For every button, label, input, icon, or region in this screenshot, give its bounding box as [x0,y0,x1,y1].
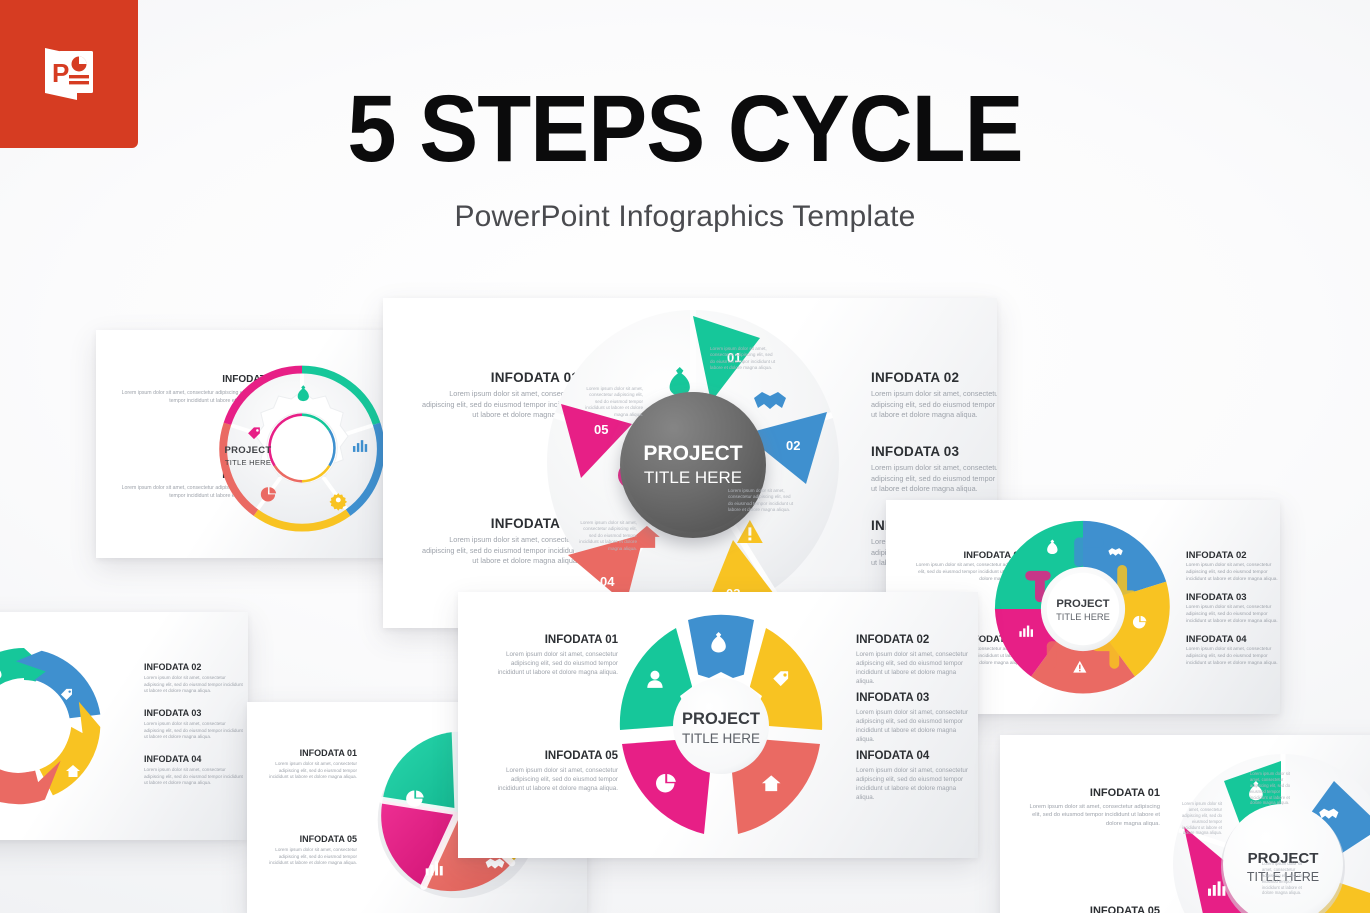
infodata-label: INFODATA 03 [144,708,201,718]
infodata-label: INFODATA 04 [1186,634,1247,645]
poster-canvas: P 5 STEPS CYCLE PowerPoint Infographics … [0,0,1370,913]
infodata-label: INFODATA 03 [1186,592,1247,603]
infodata-text: Lorem ipsum dolor sit amet, consectetur … [144,675,244,695]
infodata-label: INFODATA 02 [856,634,929,646]
infodata-label: INFODATA 03 [856,692,929,704]
infodata-text: Lorem ipsum dolor sit amet, consectetur … [261,761,357,781]
infodata-text: Lorem ipsum dolor sit amet, consectetur … [871,389,997,421]
infodata-label: INFODATA 01 [1020,787,1160,799]
infodata-label: INFODATA 03 [871,444,959,459]
center-title-line2: TITLE HERE [644,468,742,487]
inner-lorem-05: Lorem ipsum dolor sit amet, consectetur … [1178,801,1222,836]
infodata-text: Lorem ipsum dolor sit amet, consectetur … [1186,563,1278,584]
infodata-text: Lorem ipsum dolor sit amet, consectetur … [856,766,976,803]
infodata-text: Lorem ipsum dolor sit amet, consectetur … [871,463,997,495]
infodata-label: INFODATA 04 [856,750,929,762]
petal-diagram: PROJECT TITLE HERE [596,596,846,854]
inner-lorem-05: Lorem ipsum dolor sit amet, consectetur … [581,386,643,418]
puzzle-donut-diagram: PROJECT TITLE HERE [990,516,1176,702]
inner-lorem-01: Lorem ipsum dolor sit amet, consectetur … [1250,771,1298,806]
infodata-text: Lorem ipsum dolor sit amet, consectetur … [1186,605,1278,626]
inner-lorem-01: Lorem ipsum dolor sit amet, consectetur … [710,346,778,372]
center-title-line1: PROJECT [1056,598,1109,610]
center-title-line1: PROJECT [682,710,760,728]
infodata-text: Lorem ipsum dolor sit amet, consectetur … [261,847,357,867]
center-title-line2: TITLE HERE [1056,612,1110,622]
arrow-cycle-slide[interactable]: INFODATA 02 Lorem ipsum dolor sit amet, … [0,612,248,840]
infodata-label: INFODATA 01 [261,748,357,758]
infodata-text: Lorem ipsum dolor sit amet, consectetur … [1020,803,1160,828]
trapezoid-donut-slide[interactable]: INFODATA 01 Lorem ipsum dolor sit amet, … [1000,735,1370,913]
ring-segments-slide[interactable]: INFODATA 01 Lorem ipsum dolor sit amet, … [96,330,400,558]
infodata-text: Lorem ipsum dolor sit amet, consectetur … [144,767,244,787]
petal-wedges-slide[interactable]: INFODATA 01 Lorem ipsum dolor sit amet, … [458,592,978,858]
wedge-number-05: 05 [594,422,608,437]
infodata-label: INFODATA 05 [1020,905,1160,913]
wedge-number-02: 02 [786,438,800,453]
center-label: PROJECT TITLE HERE [96,445,400,467]
inner-lorem-04: Lorem ipsum dolor sit amet, consectetur … [575,520,637,552]
center-title-line2: TITLE HERE [682,731,760,746]
inner-lorem-02: Lorem ipsum dolor sit amet, consectetur … [728,488,796,514]
center-title-line1: PROJECT [643,442,742,465]
infodata-label: INFODATA 04 [144,754,201,764]
infodata-text: Lorem ipsum dolor sit amet, consectetur … [1186,647,1278,668]
infodata-label: INFODATA 02 [871,370,959,385]
infodata-label: INFODATA 05 [261,834,357,844]
infodata-text: Lorem ipsum dolor sit amet, consectetur … [144,721,244,741]
arrow-cycle-diagram [0,626,124,826]
wedge-number-04: 04 [600,574,615,589]
page-subtitle: PowerPoint Infographics Template [0,200,1370,234]
page-title: 5 STEPS CYCLE [48,82,1322,177]
infodata-label: INFODATA 02 [144,662,201,672]
infodata-label: INFODATA 02 [1186,550,1247,561]
infodata-text: Lorem ipsum dolor sit amet, consectetur … [856,708,976,745]
donut-diagram: 01 02 03 04 05 x [538,302,848,624]
inner-lorem-02: Lorem ipsum dolor sit amet, consectetur … [1262,861,1310,896]
infodata-text: Lorem ipsum dolor sit amet, consectetur … [856,650,976,687]
